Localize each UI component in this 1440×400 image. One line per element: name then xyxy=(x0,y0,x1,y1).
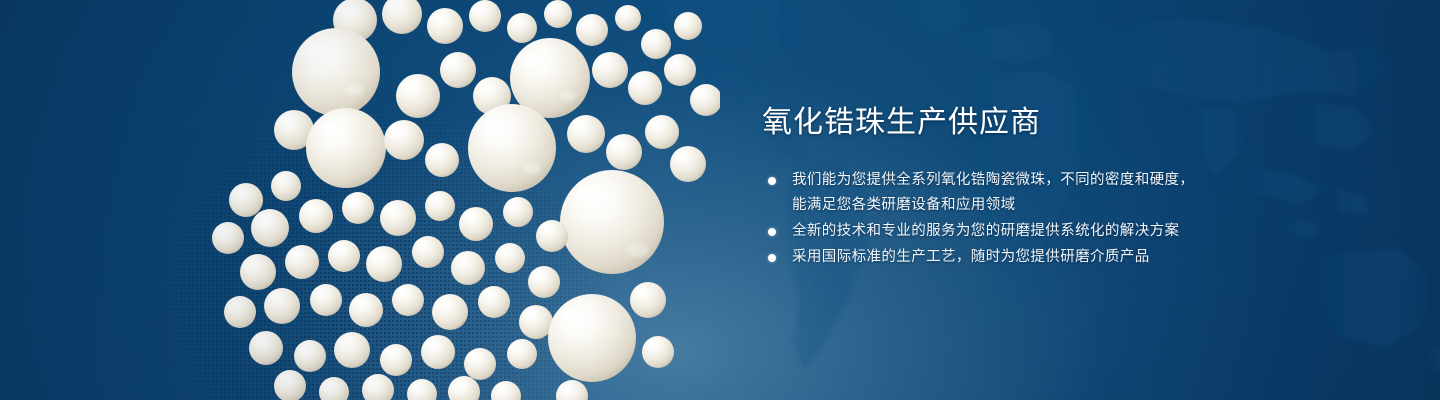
feature-list: 我们能为您提供全系列氧化锆陶瓷微珠，不同的密度和硬度， 能满足您各类研磨设备和应… xyxy=(762,168,1322,270)
hero-banner: 氧化锆珠生产供应商 我们能为您提供全系列氧化锆陶瓷微珠，不同的密度和硬度， 能满… xyxy=(0,0,1440,400)
list-item-line1: 全新的技术和专业的服务为您的研磨提供系统化的解决方案 xyxy=(792,223,1179,239)
bullet-dot-icon xyxy=(768,177,776,185)
bullet-dot-icon xyxy=(768,228,776,236)
bullet-dot-icon xyxy=(768,254,776,262)
page-title: 氧化锆珠生产供应商 xyxy=(762,104,1322,142)
list-item: 全新的技术和专业的服务为您的研磨提供系统化的解决方案 xyxy=(762,219,1322,244)
list-item-line1: 采用国际标准的生产工艺，随时为您提供研磨介质产品 xyxy=(792,249,1150,265)
list-item-line1: 我们能为您提供全系列氧化锆陶瓷微珠，不同的密度和硬度， xyxy=(792,172,1194,188)
banner-copy: 氧化锆珠生产供应商 我们能为您提供全系列氧化锆陶瓷微珠，不同的密度和硬度， 能满… xyxy=(762,104,1322,271)
list-item: 采用国际标准的生产工艺，随时为您提供研磨介质产品 xyxy=(762,245,1322,270)
list-item-line2: 能满足您各类研磨设备和应用领域 xyxy=(792,193,1322,218)
list-item: 我们能为您提供全系列氧化锆陶瓷微珠，不同的密度和硬度， 能满足您各类研磨设备和应… xyxy=(762,168,1322,218)
